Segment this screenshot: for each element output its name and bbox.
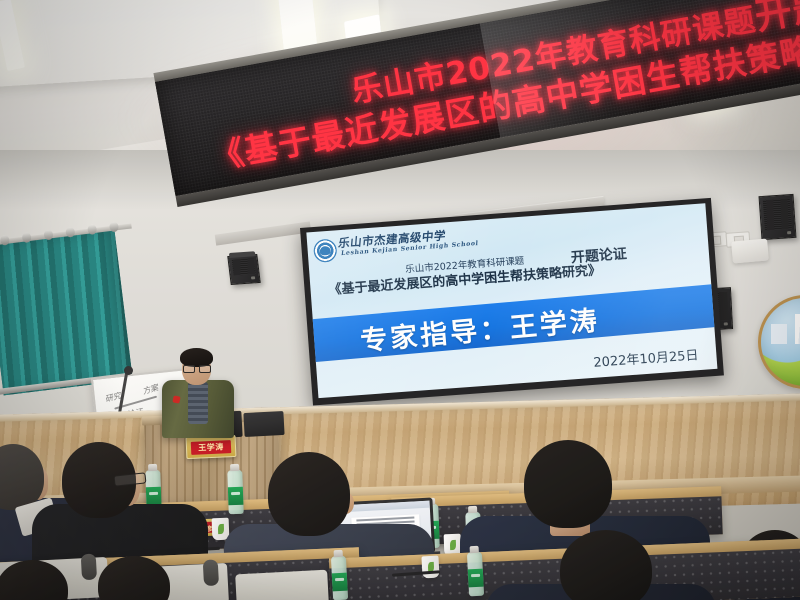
slide-subtitle-tail: 开题论证	[570, 243, 627, 267]
school-seal-icon	[313, 238, 338, 263]
wall-speaker-icon	[227, 254, 261, 285]
projection-screen: 乐山市杰建高级中学 Leshan Kejian Senior High Scho…	[300, 198, 724, 406]
presentation-slide: 乐山市杰建高级中学 Leshan Kejian Senior High Scho…	[306, 203, 717, 398]
presenter-glasses-icon	[183, 365, 209, 371]
podium-nameplate-text: 王学涛	[198, 441, 224, 453]
water-bottle	[331, 556, 348, 600]
water-bottle	[467, 552, 484, 597]
lecture-room-photo: 乐山市2022年教育科研课题开题论证 《基于最近发展区的高中学困生帮扶策略研究》…	[0, 0, 800, 600]
window-curtain	[0, 229, 133, 396]
podium-monitor	[243, 411, 284, 437]
whiteboard-note: 方案	[141, 382, 159, 397]
presenter-badge	[172, 395, 180, 403]
chair-back[interactable]	[235, 570, 329, 600]
water-bottle	[227, 470, 244, 514]
paper-cup	[421, 556, 439, 579]
microphone-icon	[124, 366, 133, 375]
slide-date: 2022年10月25日	[593, 344, 699, 371]
podium-nameplate: 王学涛	[186, 435, 237, 459]
presenter-shirt	[188, 382, 208, 424]
wall-speaker-icon	[759, 194, 797, 240]
wall-mounted-box	[731, 238, 769, 263]
